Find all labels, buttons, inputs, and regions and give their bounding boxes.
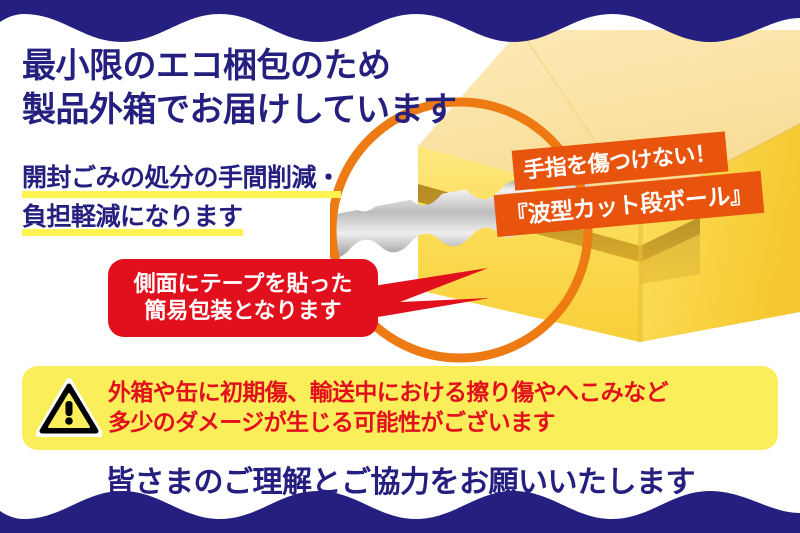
headline-line-1: 最小限のエコ梱包のため	[22, 44, 456, 88]
red-callout-box: 側面にテープを貼った 簡易包装となります	[108, 259, 378, 337]
warning-line-2: 多少のダメージが生じる可能性がございます	[108, 408, 668, 438]
orange-callout-group: 手指を傷つけない！ 『波型カット段ボール』	[495, 135, 795, 240]
warning-triangle-icon	[36, 378, 102, 438]
page-title: 最小限のエコ梱包のため 製品外箱でお届けしています	[22, 44, 456, 132]
red-callout-line-2: 簡易包装となります	[144, 298, 341, 325]
subheading: 開封ごみの処分の手間削減・ 負担軽減になります	[22, 162, 341, 239]
headline-line-2: 製品外箱でお届けしています	[22, 88, 456, 132]
warning-box: 外箱や缶に初期傷、輸送中における擦り傷やへこみなど 多少のダメージが生じる可能性…	[22, 366, 778, 450]
warning-text: 外箱や缶に初期傷、輸送中における擦り傷やへこみなど 多少のダメージが生じる可能性…	[108, 378, 668, 438]
warning-line-1: 外箱や缶に初期傷、輸送中における擦り傷やへこみなど	[108, 378, 668, 408]
navy-wave-top	[0, 0, 800, 46]
navy-wave-bottom	[0, 487, 800, 533]
red-callout-line-1: 側面にテープを貼った	[134, 271, 353, 298]
subheading-line-1: 開封ごみの処分の手間削減・	[22, 162, 341, 198]
red-pointer-arrow	[360, 268, 500, 338]
subheading-line-2: 負担軽減になります	[22, 201, 243, 237]
eco-packaging-notice-banner: 最小限のエコ梱包のため 製品外箱でお届けしています 開封ごみの処分の手間削減・ …	[0, 0, 800, 533]
